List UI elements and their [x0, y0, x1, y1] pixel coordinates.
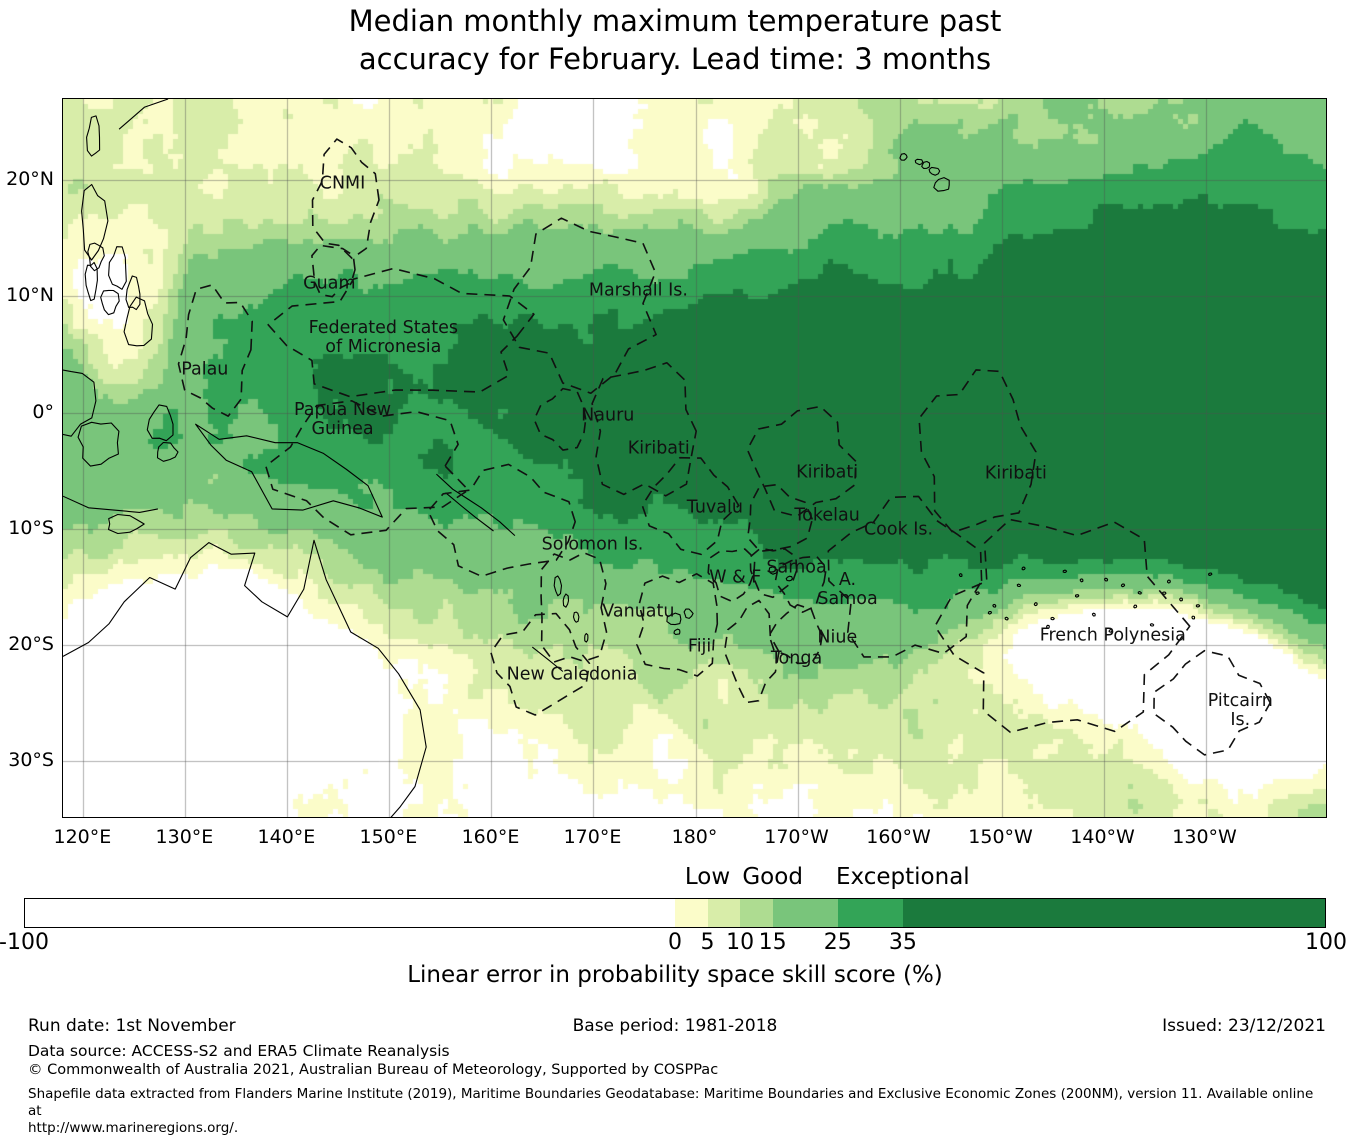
coastline [109, 247, 127, 290]
y-axis-tick-label: 0° [32, 401, 54, 423]
coastline [900, 154, 907, 161]
coastline [929, 167, 940, 175]
y-axis-tick-label: 20°N [6, 168, 54, 190]
coastline [563, 594, 568, 607]
x-axis-tick-label: 170°E [564, 826, 622, 848]
coastline [532, 647, 563, 671]
coastline [1180, 598, 1183, 601]
x-axis-tick-label: 140°W [1070, 826, 1135, 848]
eez-boundary [592, 363, 696, 496]
eez-boundary [747, 407, 856, 517]
coastline [1051, 617, 1054, 619]
eez-boundary [748, 485, 813, 552]
colorbar-tick-label: 10 [726, 930, 754, 955]
footer-primary-row: Run date: 1st November Base period: 1981… [0, 1016, 1350, 1040]
coastline [1092, 613, 1095, 616]
x-axis-tick-label: 150°W [968, 826, 1033, 848]
issued-date-text: Issued: 23/12/2021 [1162, 1016, 1326, 1036]
y-axis-tick-label: 10°N [6, 284, 54, 306]
coastline [915, 159, 922, 164]
coastline [976, 592, 979, 594]
eez-boundary [312, 245, 355, 296]
y-axis-tick-label: 30°S [8, 749, 54, 771]
coastline [85, 263, 97, 301]
copyright-text: © Commonwealth of Australia 2021, Austra… [28, 1062, 718, 1078]
coastline [109, 515, 145, 534]
eez-boundary [708, 549, 755, 602]
coastline [1192, 616, 1195, 619]
eez-boundary [750, 548, 796, 597]
colorbar-segment [903, 899, 1326, 927]
x-axis-tick-label: 130°E [156, 826, 214, 848]
coastline [1047, 625, 1050, 628]
coastline [684, 609, 693, 618]
coastline [1022, 567, 1025, 570]
coastline [1121, 584, 1124, 587]
map-vector-overlay [63, 99, 1327, 818]
coastline [1209, 573, 1212, 575]
colorbar-segment [708, 899, 741, 927]
coastline [1196, 605, 1199, 607]
colorbar-tick-label: 25 [824, 930, 852, 955]
eez-boundary [725, 601, 780, 703]
eez-boundary [1154, 651, 1270, 755]
eez-boundary [503, 218, 656, 393]
x-axis-tick-label: 160°W [866, 826, 931, 848]
x-axis-tick-label: 130°W [1172, 826, 1237, 848]
shapefile-attribution-text: Shapefile data extracted from Flanders M… [28, 1086, 1328, 1137]
coastline [667, 613, 681, 625]
coastline [158, 443, 179, 462]
eez-boundary [637, 574, 717, 676]
coastline [147, 405, 173, 441]
colorbar-axis-label: Linear error in probability space skill … [0, 962, 1350, 988]
eez-boundary [642, 458, 738, 555]
colorbar-tick-label: 0 [668, 930, 682, 955]
x-axis-tick-label: 150°E [360, 826, 418, 848]
coastline [87, 116, 100, 156]
eez-boundary [775, 556, 826, 612]
eez-boundary [268, 269, 534, 397]
coastline [1134, 605, 1137, 608]
colorbar-segment [740, 899, 773, 927]
coastline [1105, 578, 1108, 581]
colorbar-category-exceptional: Exceptional [836, 864, 970, 890]
colorbar-segment [773, 899, 838, 927]
coastline [1017, 584, 1020, 586]
coastline [126, 276, 140, 310]
colorbar-category-low: Low [685, 864, 730, 890]
eez-boundary [534, 389, 586, 451]
coastline [959, 574, 962, 577]
coastline [1005, 617, 1008, 620]
colorbar-category-labels: LowGoodExceptional [24, 864, 1326, 894]
colorbar-segment [838, 899, 903, 927]
coastline [786, 576, 792, 581]
coastline [934, 178, 949, 192]
coastline [196, 424, 383, 517]
colorbar-tick-labels: -1000510152535100 [24, 930, 1326, 958]
coastline [1138, 592, 1141, 595]
eez-boundary [828, 496, 981, 657]
coastline [1063, 570, 1066, 572]
coastline [63, 496, 158, 512]
coastline [63, 369, 96, 436]
page-title: Median monthly maximum temperature past … [0, 2, 1350, 78]
colorbar[interactable] [24, 898, 1326, 928]
y-axis-tick-label: 10°S [8, 517, 54, 539]
coastline [1109, 630, 1112, 633]
coastline [993, 604, 996, 607]
eez-boundary [313, 139, 380, 258]
colorbar-category-good: Good [742, 864, 803, 890]
coastline [1076, 595, 1079, 597]
base-period-text: Base period: 1981-2018 [0, 1016, 1350, 1036]
coastline [1168, 580, 1171, 583]
coastline [78, 422, 119, 466]
coastline [124, 297, 152, 346]
y-axis-tick-label: 20°S [8, 633, 54, 655]
eez-boundary [179, 285, 253, 416]
coastline [82, 185, 108, 261]
colorbar-tick-label: 15 [759, 930, 787, 955]
map-plot-area[interactable] [62, 98, 1327, 818]
colorbar-tick-label: 5 [701, 930, 715, 955]
coastline [769, 567, 777, 574]
x-axis-tick-label: 120°E [54, 826, 112, 848]
colorbar-segment [675, 899, 708, 927]
coastline [674, 629, 680, 634]
eez-boundary [491, 614, 590, 716]
coastline [988, 612, 991, 615]
coastline [1150, 624, 1153, 626]
x-axis-tick-label: 180° [672, 826, 718, 848]
coastline [585, 634, 588, 643]
eez-boundary [919, 370, 1036, 532]
coastline [1034, 603, 1037, 606]
eez-boundary [769, 605, 822, 664]
colorbar-segment [25, 899, 675, 927]
coastline [119, 99, 168, 129]
coastline [574, 612, 579, 622]
eez-boundary [541, 553, 606, 662]
data-source-text: Data source: ACCESS-S2 and ERA5 Climate … [28, 1042, 450, 1060]
x-axis-tick-label: 160°E [462, 826, 520, 848]
coastline [554, 576, 561, 596]
x-axis-tick-label: 170°W [764, 826, 829, 848]
coastline [1080, 579, 1083, 582]
coastline [101, 290, 120, 314]
colorbar-tick-label: 35 [889, 930, 917, 955]
colorbar-tick-label: -100 [0, 930, 49, 955]
eez-boundary [266, 401, 469, 535]
eez-boundary [428, 464, 575, 576]
colorbar-tick-label: 100 [1305, 930, 1347, 955]
coastline [63, 540, 426, 818]
x-axis-tick-label: 140°E [258, 826, 316, 848]
